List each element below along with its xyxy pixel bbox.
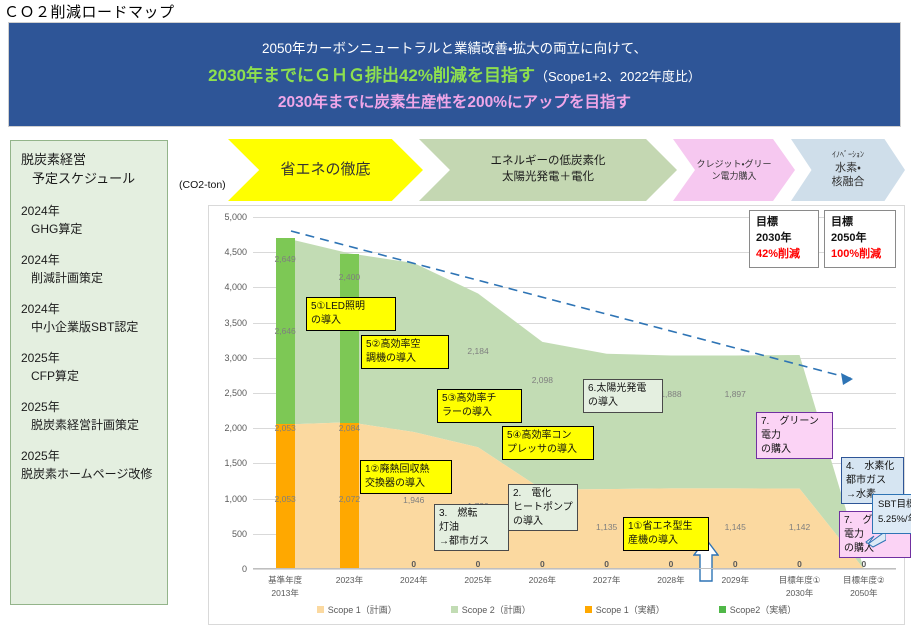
sbt-title: SBT目標 — [878, 498, 911, 513]
chart-legend: Scope 1（計画）Scope 2（計画）Scope 1（実績）Scope2（… — [209, 603, 904, 616]
y-axis-tick: 4,500 — [224, 247, 247, 257]
phase-innovation-tag: ｲﾉﾍﾞｰｼｮﾝ — [832, 150, 864, 161]
banner-line-2: 2030年までにＧＨＧ排出42%削減を目指す（Scope1+2、2022年度比） — [208, 61, 701, 86]
measure-callout: 5③高効率チ ラーの導入 — [437, 389, 522, 423]
chart-unit-label: (CO2-ton) — [179, 179, 226, 191]
target-value: 42%削減 — [756, 247, 812, 263]
target-label: 目標 — [756, 215, 812, 231]
x-axis-tick-line1: 2023年 — [336, 574, 363, 587]
measure-callout: 2. 電化 ヒートポンプ の導入 — [508, 484, 578, 531]
data-value-label: 2,400 — [339, 272, 360, 282]
legend-label: Scope 2（計画） — [462, 603, 531, 616]
x-axis-tick-line2: 2030年 — [779, 587, 821, 600]
phase-title: クレジット・グリー — [696, 158, 771, 170]
measure-callout: 1②廃熱回収熱 交換器の導入 — [360, 460, 452, 494]
schedule-panel: 脱炭素経営 予定スケジュール 2024年 GHG算定 2024年 削減計画策定 … — [10, 140, 168, 605]
schedule-item-year: 2024年 — [21, 300, 159, 318]
target-box-2050: 目標 2050年 100%削減 — [824, 210, 896, 268]
page-title: ＣＯ２削減ロードマップ — [4, 1, 175, 22]
y-axis-tick: 500 — [232, 529, 247, 539]
schedule-item: 2025年 脱炭素ホームページ改修 — [21, 447, 159, 483]
legend-label: Scope2（実績） — [730, 603, 797, 616]
measure-callout: 5②高効率空 調機の導入 — [361, 335, 449, 369]
legend-swatch — [451, 606, 458, 613]
phase-title: エネルギーの低炭素化 — [491, 154, 606, 170]
x-axis-tick: 2029年 — [722, 574, 749, 587]
legend-item: Scope 2（計画） — [451, 603, 531, 616]
y-axis-tick: 3,500 — [224, 318, 247, 328]
gridline — [253, 569, 896, 570]
measure-callout: 6.太陽光発電 の導入 — [583, 379, 663, 413]
y-axis-tick: 1,000 — [224, 494, 247, 504]
legend-swatch — [585, 606, 592, 613]
x-axis-tick: 目標年度②2050年 — [843, 574, 885, 600]
schedule-item-task: 中小企業版SBT認定 — [21, 318, 159, 336]
measure-callout: 7. グリーン電力 の購入 — [756, 412, 833, 459]
legend-swatch — [317, 606, 324, 613]
phase-chevron-strip: 省エネの徹底 エネルギーの低炭素化 太陽光発電＋電化 クレジット・グリー ン電力… — [228, 139, 905, 201]
headline-banner: 2050年カーボンニュートラルと業績改善・拡大の両立に向けて、 2030年までに… — [8, 22, 901, 127]
legend-item: Scope2（実績） — [719, 603, 797, 616]
banner-scope-note: （Scope1+2、2022年度比） — [535, 69, 701, 84]
sbt-target-callout: SBT目標 5.25%/年削減 — [872, 494, 911, 534]
phase-chevron-hydrogen-fusion: ｲﾉﾍﾞｰｼｮﾝ 水素・ 核融合 — [791, 139, 905, 201]
data-value-label: 1,135 — [596, 522, 617, 532]
data-value-label: 2,053 — [275, 423, 296, 433]
chart-plot-area: 05001,0001,5002,0002,5003,0003,5004,0004… — [253, 217, 896, 569]
data-value-label: 2,649 — [275, 254, 296, 264]
legend-label: Scope 1（計画） — [328, 603, 397, 616]
data-value-label: 1,888 — [660, 389, 681, 399]
data-value-label: 2,084 — [339, 423, 360, 433]
data-value-label: 2,646 — [275, 326, 296, 336]
legend-swatch — [719, 606, 726, 613]
target-year: 2050年 — [831, 231, 889, 247]
schedule-heading-2: 予定スケジュール — [21, 170, 159, 189]
x-axis-tick: 2024年 — [400, 574, 427, 587]
banner-ghg-target: 2030年までにＧＨＧ排出42%削減を目指す — [208, 66, 535, 85]
x-axis-tick-line1: 2025年 — [464, 574, 491, 587]
legend-item: Scope 1（実績） — [585, 603, 665, 616]
phase-chevron-energy-saving: 省エネの徹底 — [228, 139, 423, 201]
phase-subtitle: 太陽光発電＋電化 — [502, 170, 594, 186]
schedule-item-task: 脱炭素経営計画策定 — [21, 416, 159, 434]
x-axis-tick: 2026年 — [529, 574, 556, 587]
phase-title: 省エネの徹底 — [280, 160, 370, 180]
chart-x-axis — [253, 568, 896, 569]
y-axis-tick: 0 — [242, 564, 247, 574]
roadmap-page: ＣＯ２削減ロードマップ 2050年カーボンニュートラルと業績改善・拡大の両立に向… — [0, 0, 911, 633]
schedule-item-year: 2024年 — [21, 202, 159, 220]
schedule-item: 2024年 GHG算定 — [21, 202, 159, 238]
data-value-label: 2,184 — [467, 346, 488, 356]
phase-title: 水素・ — [835, 161, 861, 176]
schedule-item-year: 2024年 — [21, 251, 159, 269]
data-value-label: 1,946 — [403, 495, 424, 505]
x-axis-tick: 目標年度①2030年 — [779, 574, 821, 600]
measure-callout: 5④高効率コン プレッサの導入 — [502, 426, 594, 460]
x-axis-tick: 基準年度2013年 — [268, 574, 302, 600]
banner-line-3: 2030年までに炭素生産性を200%にアップを目指す — [278, 90, 631, 112]
phase-chevron-low-carbon-energy: エネルギーの低炭素化 太陽光発電＋電化 — [419, 139, 677, 201]
data-value-label: 1,142 — [789, 522, 810, 532]
schedule-item-task: 削減計画策定 — [21, 269, 159, 287]
x-axis-tick: 2027年 — [593, 574, 620, 587]
y-axis-tick: 2,500 — [224, 388, 247, 398]
x-axis-tick: 2023年 — [336, 574, 363, 587]
x-axis-tick-line1: 基準年度 — [268, 574, 302, 587]
x-axis-tick-line1: 目標年度② — [843, 574, 885, 587]
schedule-item: 2025年 CFP算定 — [21, 349, 159, 385]
x-axis-tick-line1: 2028年 — [657, 574, 684, 587]
schedule-item-task: GHG算定 — [21, 220, 159, 238]
schedule-item: 2024年 中小企業版SBT認定 — [21, 300, 159, 336]
measure-callout: 1①省エネ型生 産機の導入 — [623, 517, 709, 551]
measure-callout: 5①LED照明 の導入 — [306, 297, 396, 331]
target-box-2030: 目標 2030年 42%削減 — [749, 210, 819, 268]
target-value: 100%削減 — [831, 247, 889, 263]
sbt-rate: 5.25%/年削減 — [878, 513, 911, 528]
schedule-heading-1: 脱炭素経営 — [21, 151, 159, 170]
y-axis-tick: 4,000 — [224, 282, 247, 292]
target-label: 目標 — [831, 215, 889, 231]
phase-chevron-credit-green-power: クレジット・グリー ン電力購入 — [673, 139, 795, 201]
banner-line-1: 2050年カーボンニュートラルと業績改善・拡大の両立に向けて、 — [262, 37, 647, 57]
x-axis-tick-line1: 2024年 — [400, 574, 427, 587]
data-value-label: 1,145 — [725, 522, 746, 532]
schedule-item-year: 2025年 — [21, 447, 159, 465]
schedule-item-year: 2025年 — [21, 398, 159, 416]
y-axis-tick: 2,000 — [224, 423, 247, 433]
y-axis-tick: 3,000 — [224, 353, 247, 363]
schedule-item-year: 2025年 — [21, 349, 159, 367]
target-year: 2030年 — [756, 231, 812, 247]
schedule-item-task: CFP算定 — [21, 367, 159, 385]
x-axis-tick: 2028年 — [657, 574, 684, 587]
legend-item: Scope 1（計画） — [317, 603, 397, 616]
schedule-item: 2025年 脱炭素経営計画策定 — [21, 398, 159, 434]
x-axis-tick: 2025年 — [464, 574, 491, 587]
x-axis-tick-line2: 2050年 — [843, 587, 885, 600]
x-axis-tick-line1: 2029年 — [722, 574, 749, 587]
data-value-label: 1,897 — [725, 389, 746, 399]
data-value-label: 2,053 — [275, 494, 296, 504]
legend-label: Scope 1（実績） — [596, 603, 665, 616]
y-axis-tick: 1,500 — [224, 458, 247, 468]
schedule-item: 2024年 削減計画策定 — [21, 251, 159, 287]
y-axis-tick: 5,000 — [224, 212, 247, 222]
data-value-label: 2,098 — [532, 375, 553, 385]
data-value-label: 2,072 — [339, 494, 360, 504]
x-axis-tick-line1: 2026年 — [529, 574, 556, 587]
emissions-roadmap-chart: 05001,0001,5002,0002,5003,0003,5004,0004… — [208, 205, 905, 625]
x-axis-tick-line1: 2027年 — [593, 574, 620, 587]
phase-subtitle: 核融合 — [832, 175, 865, 190]
measure-callout: 3. 燃転 灯油 →都市ガス — [434, 504, 509, 551]
x-axis-tick-line1: 目標年度① — [779, 574, 821, 587]
schedule-item-task: 脱炭素ホームページ改修 — [21, 465, 159, 483]
phase-subtitle: ン電力購入 — [711, 170, 756, 182]
x-axis-tick-line2: 2013年 — [268, 587, 302, 600]
